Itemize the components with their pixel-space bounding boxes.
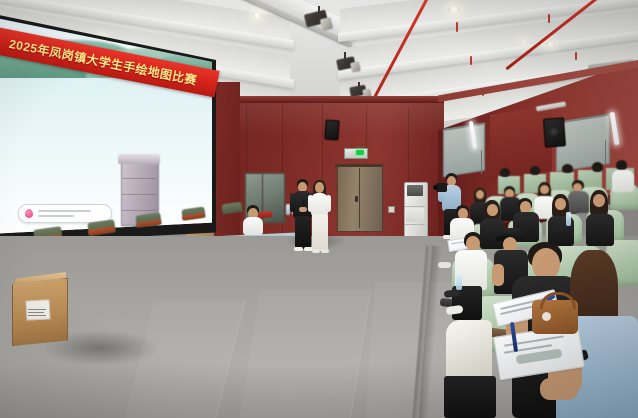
host-arm (308, 195, 313, 212)
slide-tower-band (122, 210, 156, 211)
audience-arm (492, 264, 504, 286)
slide-tower-band (122, 178, 156, 179)
shipping-label-line (28, 315, 46, 316)
host-shoe (321, 249, 329, 253)
presenter-arm (290, 193, 295, 212)
right-wall-panel (490, 105, 552, 181)
audience-head (530, 166, 540, 175)
downlight (546, 42, 555, 47)
downlight (520, 40, 527, 44)
chip-text-line (38, 210, 91, 212)
audience-face (476, 190, 484, 199)
exit-door[interactable] (337, 166, 383, 232)
slide-tower-top (118, 154, 160, 164)
audience-face (540, 185, 549, 194)
auditorium-scene: 2025年凤岗镇大学生手绘地图比赛 (0, 0, 638, 418)
sprinkler-dropper (575, 52, 577, 60)
door-split (359, 168, 360, 228)
projector-spotlight-head (350, 61, 361, 73)
microphone (302, 198, 305, 207)
audience-head (562, 164, 573, 173)
seated-speaker-body (243, 217, 263, 235)
air-conditioner-seam (405, 206, 425, 207)
seat[interactable] (550, 172, 574, 192)
sprinkler-dropper (470, 56, 472, 65)
host-legs (312, 214, 328, 251)
downlight (448, 6, 460, 13)
shipping-label-line (28, 312, 44, 313)
slide-caption-chip[interactable] (18, 204, 112, 223)
shipping-label-line (28, 309, 46, 310)
wall-speaker (324, 120, 339, 141)
sprinkler-dropper (456, 22, 458, 32)
host-head (315, 182, 324, 193)
window-blind-pull[interactable] (481, 150, 482, 174)
window-blind[interactable] (443, 123, 485, 178)
audience-legs (444, 376, 496, 418)
air-conditioner-grille (407, 185, 423, 196)
audience-torso (612, 170, 634, 192)
downlight (253, 13, 261, 18)
foreground-woman-hand (540, 378, 578, 400)
audience-torso (568, 191, 589, 213)
air-conditioner-panel (406, 208, 424, 222)
audience-head (592, 162, 603, 172)
host-shoe (312, 249, 320, 253)
presenter-shoe (294, 247, 303, 251)
speaker-cone (548, 126, 559, 137)
audience-torso (586, 214, 614, 246)
presenter-hand (299, 207, 307, 212)
audience-head (500, 168, 510, 177)
slide-tower-band (122, 194, 156, 195)
left-wall-dark-panel (214, 82, 240, 244)
water-bottle (456, 274, 462, 290)
camera-lens (433, 185, 438, 190)
audience-face (466, 236, 480, 251)
shoe (438, 262, 451, 268)
audience-face (593, 194, 605, 207)
exit-sign-light (356, 150, 364, 155)
sprinkler-dropper (548, 14, 550, 23)
door-handle[interactable] (355, 196, 358, 202)
audience-face (555, 198, 566, 210)
air-conditioner-seam (405, 224, 425, 225)
window-blind-pull[interactable] (605, 140, 606, 164)
handbag-badge (542, 312, 551, 321)
audience-face (487, 204, 498, 216)
flower-icon (25, 209, 33, 218)
water-bottle (566, 212, 571, 226)
audience-head (616, 160, 627, 170)
presenter-legs (295, 216, 311, 249)
exit-sign-label (346, 149, 356, 156)
host-arm (326, 195, 331, 212)
chip-text-line (38, 215, 74, 217)
door-frame-top (335, 164, 383, 167)
wall-switch[interactable] (388, 206, 395, 213)
floor-tile-seam (240, 290, 371, 418)
